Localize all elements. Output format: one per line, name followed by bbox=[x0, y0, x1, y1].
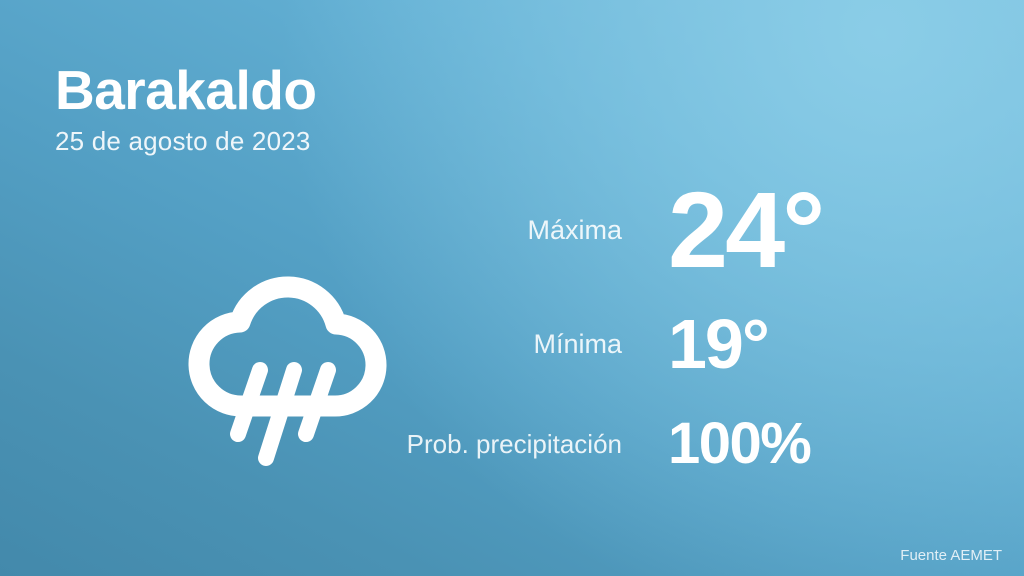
readings-list: Máxima 24° Mínima 19° Prob. precipitació… bbox=[380, 170, 940, 490]
source-attribution: Fuente AEMET bbox=[900, 547, 1002, 564]
reading-label-minima: Mínima bbox=[380, 329, 668, 360]
reading-value-minima: 19° bbox=[668, 309, 768, 379]
city-name: Barakaldo bbox=[55, 62, 316, 118]
reading-row-minima: Mínima 19° bbox=[380, 290, 940, 398]
reading-value-precipitacion: 100% bbox=[668, 415, 810, 473]
reading-label-precipitacion: Prob. precipitación bbox=[380, 429, 668, 460]
rain-cloud-icon bbox=[178, 258, 398, 470]
reading-label-maxima: Máxima bbox=[380, 215, 668, 246]
reading-row-precipitacion: Prob. precipitación 100% bbox=[380, 398, 940, 490]
reading-value-maxima: 24° bbox=[668, 176, 822, 284]
reading-row-maxima: Máxima 24° bbox=[380, 170, 940, 290]
header-block: Barakaldo 25 de agosto de 2023 bbox=[55, 62, 316, 157]
forecast-date: 25 de agosto de 2023 bbox=[55, 126, 316, 157]
weather-card: Barakaldo 25 de agosto de 2023 Máxima 24… bbox=[0, 0, 1024, 576]
